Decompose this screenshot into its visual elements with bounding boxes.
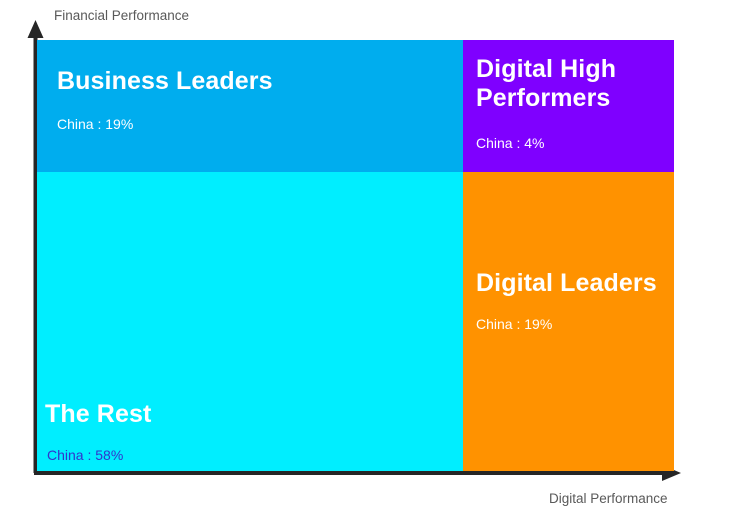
quadrant-stat: China : 19% [476, 316, 674, 333]
quadrant-the-rest[interactable]: The Rest China : 58% [37, 172, 463, 471]
quadrant-stat: China : 58% [47, 447, 463, 464]
quadrant-stat: China : 4% [476, 135, 674, 152]
quadrant-matrix-chart: Financial Performance Digital Performanc… [0, 0, 750, 519]
quadrant-content: Business Leaders China : 19% [57, 67, 463, 133]
quadrant-title: Digital High Performers [476, 55, 674, 113]
quadrant-title: The Rest [45, 400, 463, 429]
arrow-up-icon [28, 20, 44, 38]
quadrant-content: The Rest China : 58% [45, 400, 463, 464]
quadrant-title: Business Leaders [57, 67, 463, 96]
quadrant-digital-high-performers[interactable]: Digital High Performers China : 4% [463, 40, 674, 172]
quadrant-business-leaders[interactable]: Business Leaders China : 19% [37, 40, 463, 172]
quadrant-stat: China : 19% [57, 116, 463, 133]
y-axis-label: Financial Performance [54, 8, 189, 24]
quadrant-content: Digital High Performers China : 4% [476, 55, 674, 152]
quadrant-grid: Business Leaders China : 19% Digital Hig… [37, 40, 674, 471]
quadrant-content: Digital Leaders China : 19% [476, 269, 674, 333]
quadrant-digital-leaders[interactable]: Digital Leaders China : 19% [463, 172, 674, 471]
x-axis-label: Digital Performance [549, 491, 668, 507]
quadrant-title: Digital Leaders [476, 269, 674, 298]
